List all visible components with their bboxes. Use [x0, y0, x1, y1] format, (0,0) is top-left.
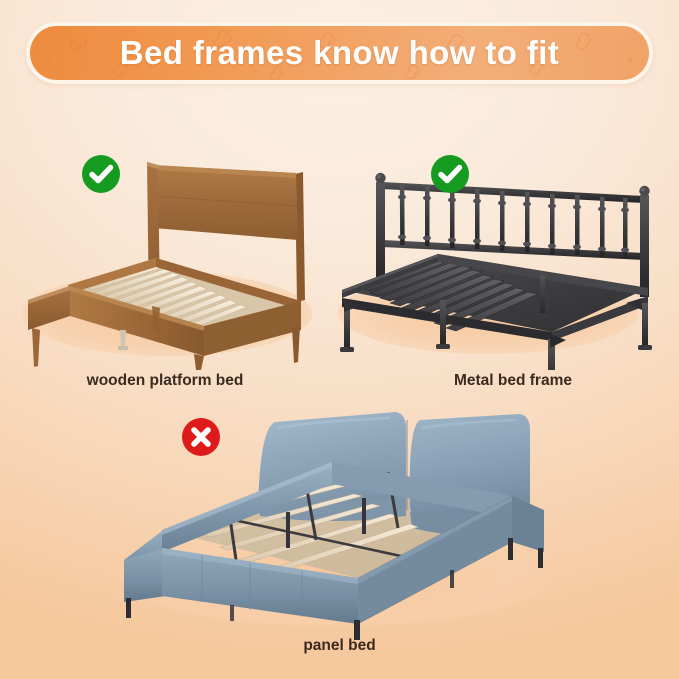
- cross-icon: [182, 418, 220, 456]
- check-icon: [82, 155, 120, 193]
- panel-bed-rejected-badge: [182, 418, 220, 456]
- header-banner-fill: Bed frames know how to fit: [30, 26, 649, 80]
- header-banner: Bed frames know how to fit: [26, 22, 653, 84]
- metal-bed-approved-badge: [431, 155, 469, 193]
- metal-bed-caption: Metal bed frame: [348, 372, 678, 390]
- metal-bed-frame-illustration: [320, 140, 670, 370]
- wooden-bed-approved-badge: [82, 155, 120, 193]
- wooden-platform-bed-illustration: [8, 140, 328, 370]
- wooden-bed-caption: wooden platform bed: [0, 372, 330, 390]
- infographic-canvas: Bed frames know how to fit: [0, 0, 679, 679]
- panel-bed-caption: panel bed: [0, 637, 679, 655]
- page-title: Bed frames know how to fit: [30, 34, 649, 72]
- check-icon: [431, 155, 469, 193]
- panel-bed-illustration: [110, 400, 560, 640]
